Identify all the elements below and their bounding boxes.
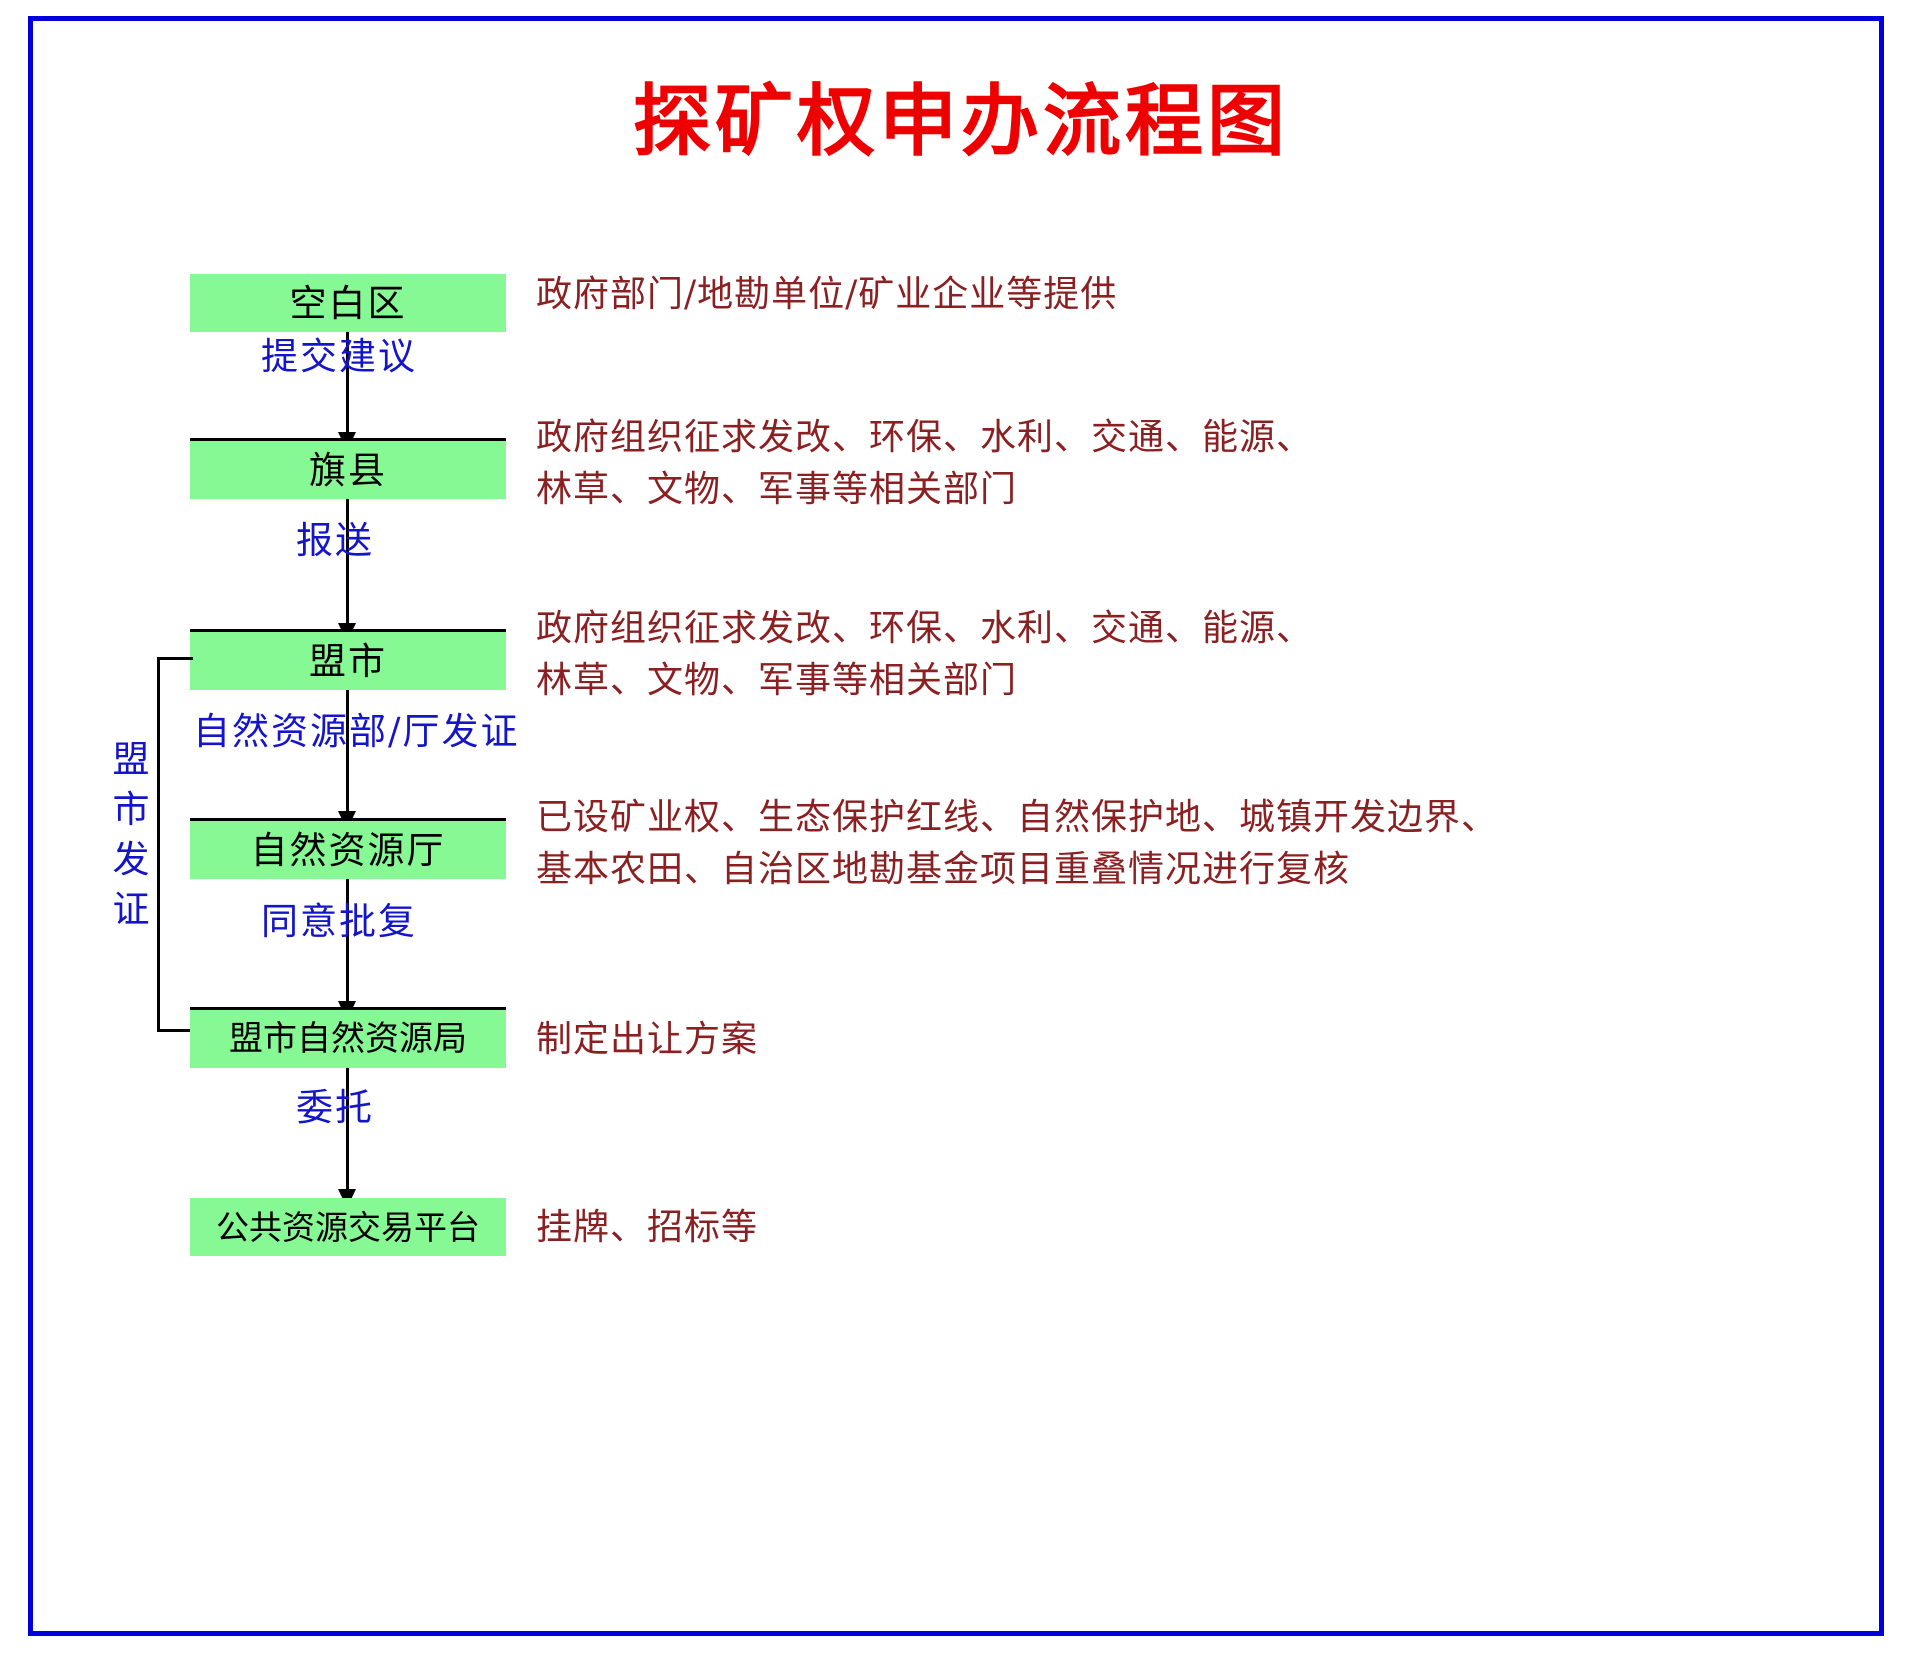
desc-blank-area: 政府部门/地勘单位/矿业企业等提供 (536, 269, 1117, 321)
node-league-city-label: 盟市 (309, 643, 387, 680)
node-league-city-bureau-label: 盟市自然资源局 (229, 1022, 467, 1056)
desc-league-city-line2: 林草、文物、军事等相关部门 (536, 655, 1313, 707)
desc-natural-resources-dept-line1: 已设矿业权、生态保护红线、自然保护地、城镇开发边界、 (536, 792, 1498, 844)
desc-league-city: 政府组织征求发改、环保、水利、交通、能源、 林草、文物、军事等相关部门 (536, 603, 1313, 707)
node-natural-resources-dept[interactable]: 自然资源厅 (190, 821, 506, 879)
bypass-vertical-segment (157, 657, 160, 1032)
desc-public-resource-platform: 挂牌、招标等 (536, 1202, 758, 1254)
desc-league-city-line1: 政府组织征求发改、环保、水利、交通、能源、 (536, 603, 1313, 655)
node-public-resource-platform[interactable]: 公共资源交易平台 (190, 1198, 506, 1256)
desc-natural-resources-dept-line2: 基本农田、自治区地勘基金项目重叠情况进行复核 (536, 844, 1498, 896)
desc-blank-area-line1: 政府部门/地勘单位/矿业企业等提供 (536, 269, 1117, 321)
flowchart-page: 探矿权申办流程图 空白区 政府部门/地勘单位/矿业企业等提供 提交建议 旗县 政… (0, 0, 1920, 1666)
node-blank-area[interactable]: 空白区 (190, 274, 506, 332)
edge-label-ministry-issue-license: 自然资源部/厅发证 (193, 713, 519, 752)
desc-league-city-bureau-line1: 制定出让方案 (536, 1014, 758, 1066)
node-league-city[interactable]: 盟市 (190, 632, 506, 690)
desc-public-resource-platform-line1: 挂牌、招标等 (536, 1202, 758, 1254)
connector-dept-to-bureau (346, 879, 349, 1009)
edge-label-league-city-issue-license: 盟市发证 (110, 735, 152, 935)
desc-banner-county-line2: 林草、文物、军事等相关部门 (536, 464, 1313, 516)
node-league-city-bureau[interactable]: 盟市自然资源局 (190, 1010, 506, 1068)
page-border-frame: 探矿权申办流程图 空白区 政府部门/地勘单位/矿业企业等提供 提交建议 旗县 政… (28, 16, 1884, 1636)
node-banner-county-label: 旗县 (309, 452, 387, 489)
desc-banner-county-line1: 政府组织征求发改、环保、水利、交通、能源、 (536, 412, 1313, 464)
edge-label-submit-proposal: 提交建议 (261, 338, 417, 377)
node-blank-area-label: 空白区 (290, 285, 407, 322)
desc-league-city-bureau: 制定出让方案 (536, 1014, 758, 1066)
desc-banner-county: 政府组织征求发改、环保、水利、交通、能源、 林草、文物、军事等相关部门 (536, 412, 1313, 516)
desc-natural-resources-dept: 已设矿业权、生态保护红线、自然保护地、城镇开发边界、 基本农田、自治区地勘基金项… (536, 792, 1498, 896)
page-title: 探矿权申办流程图 (33, 79, 1889, 165)
node-natural-resources-dept-label: 自然资源厅 (251, 832, 446, 869)
bypass-top-segment (157, 657, 193, 660)
edge-label-entrust: 委托 (296, 1089, 374, 1128)
node-public-resource-platform-label: 公共资源交易平台 (216, 1211, 480, 1244)
edge-label-approval-agreed: 同意批复 (261, 903, 417, 942)
edge-label-report-submit: 报送 (296, 522, 374, 561)
node-banner-county[interactable]: 旗县 (190, 441, 506, 499)
